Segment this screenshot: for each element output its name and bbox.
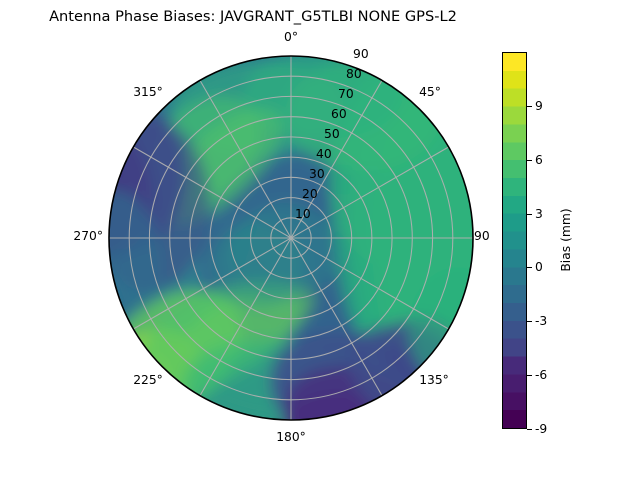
colorbar-ticklabel-neg3: -3 bbox=[535, 314, 547, 328]
angular-tick-225: 225° bbox=[122, 373, 174, 387]
colorbar-ticklabel-3: 3 bbox=[535, 207, 543, 221]
radial-tick-80: 80 bbox=[346, 67, 362, 81]
polar-plot-axes: 0° 45° 90 135° 180° 225° 270° 315° 10 20… bbox=[108, 55, 474, 421]
colorbar-ticklabel-0: 0 bbox=[535, 260, 543, 274]
angular-tick-45: 45° bbox=[408, 85, 452, 99]
angular-tick-315: 315° bbox=[122, 85, 174, 99]
angular-tick-0: 0° bbox=[275, 30, 307, 44]
colorbar-tick-mark bbox=[527, 214, 532, 215]
colorbar-tick-mark bbox=[527, 321, 532, 322]
colorbar-tick-mark bbox=[527, 429, 532, 430]
colorbar-tick-mark bbox=[527, 375, 532, 376]
radial-tick-90: 90 bbox=[353, 47, 369, 61]
radial-tick-30: 30 bbox=[309, 167, 325, 181]
angular-tick-180: 180° bbox=[267, 430, 315, 444]
colorbar-axis-label: Bias (mm) bbox=[559, 208, 573, 271]
matplotlib-figure: Antenna Phase Biases: JAVGRANT_G5TLBI NO… bbox=[0, 0, 640, 480]
angular-tick-135: 135° bbox=[408, 373, 460, 387]
radial-tick-20: 20 bbox=[302, 187, 318, 201]
page-title: Antenna Phase Biases: JAVGRANT_G5TLBI NO… bbox=[0, 8, 506, 26]
radial-tick-50: 50 bbox=[324, 127, 340, 141]
colorbar-ticklabel-9: 9 bbox=[535, 99, 543, 113]
radial-tick-40: 40 bbox=[316, 147, 332, 161]
radial-tick-60: 60 bbox=[331, 107, 347, 121]
radial-tick-10: 10 bbox=[295, 207, 311, 221]
colorbar-tick-mark bbox=[527, 106, 532, 107]
colorbar-tick-mark bbox=[527, 267, 532, 268]
radial-tick-70: 70 bbox=[338, 87, 354, 101]
angular-tick-270: 270° bbox=[55, 229, 103, 243]
colorbar-axes: 9 6 3 0 -3 -6 -9 bbox=[502, 52, 527, 429]
angular-tick-90: 90 bbox=[474, 229, 504, 243]
polar-contour-svg bbox=[108, 55, 474, 421]
colorbar-ticklabel-neg6: -6 bbox=[535, 368, 547, 382]
colorbar-gradient bbox=[502, 52, 527, 429]
colorbar-tick-mark bbox=[527, 160, 532, 161]
colorbar-ticklabel-neg9: -9 bbox=[535, 422, 547, 436]
colorbar-ticklabel-6: 6 bbox=[535, 153, 543, 167]
